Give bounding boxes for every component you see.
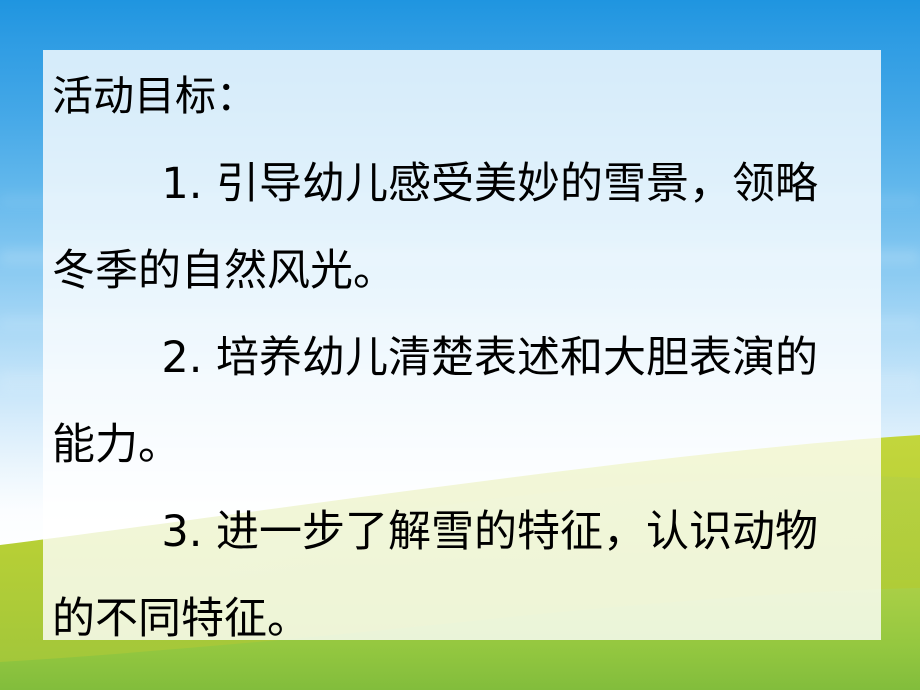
objective-line-2: 冬季的自然风光。 [52,250,396,293]
objective-line-1: 1. 引导幼儿感受美妙的雪景，领略 [52,163,818,206]
content-text-block: 活动目标： 1. 引导幼儿感受美妙的雪景，领略 冬季的自然风光。 2. 培养幼儿… [43,50,881,640]
page-title: 活动目标： [52,76,257,117]
objective-line-5: 3. 进一步了解雪的特征，认识动物 [52,511,818,554]
slide-canvas: 活动目标： 1. 引导幼儿感受美妙的雪景，领略 冬季的自然风光。 2. 培养幼儿… [0,0,920,690]
objective-line-4: 能力。 [52,424,181,467]
objective-line-3: 2. 培养幼儿清楚表述和大胆表演的 [52,337,818,380]
objective-line-6: 的不同特征。 [52,598,310,640]
